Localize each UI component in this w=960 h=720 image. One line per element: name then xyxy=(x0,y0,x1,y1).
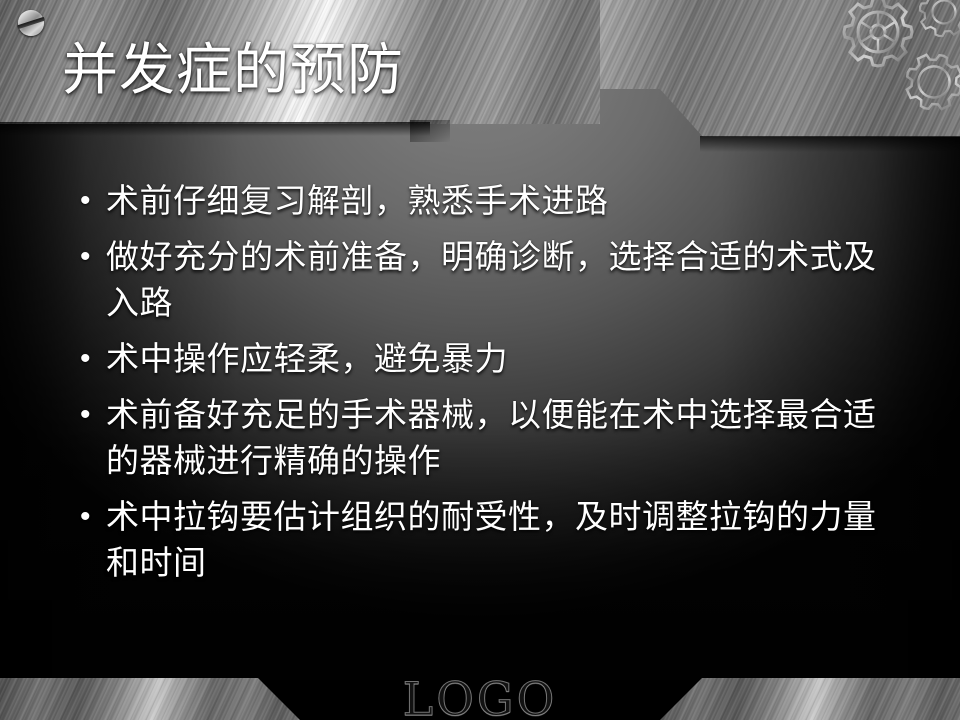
bullet-marker: • xyxy=(80,392,106,438)
bullet-marker: • xyxy=(80,336,106,382)
screw-icon xyxy=(18,10,44,36)
bullet-marker: • xyxy=(80,494,106,540)
bullet-list: • 术前仔细复习解剖，熟悉手术进路 • 做好充分的术前准备，明确诊断，选择合适的… xyxy=(80,178,890,596)
list-item-text: 术中拉钩要估计组织的耐受性，及时调整拉钩的力量和时间 xyxy=(106,494,890,586)
bullet-marker: • xyxy=(80,234,106,280)
list-item-text: 术前仔细复习解剖，熟悉手术进路 xyxy=(106,178,890,224)
list-item-text: 做好充分的术前准备，明确诊断，选择合适的术式及入路 xyxy=(106,234,890,326)
bullet-marker: • xyxy=(80,178,106,224)
list-item: • 术前备好充足的手术器械，以便能在术中选择最合适的器械进行精确的操作 xyxy=(80,392,890,484)
list-item-text: 术中操作应轻柔，避免暴力 xyxy=(106,336,890,382)
slide-canvas: 并发症的预防 • 术前仔细复习解剖，熟悉手术进路 • 做好充分的术前准备，明确诊… xyxy=(0,0,960,720)
list-item: • 术中操作应轻柔，避免暴力 xyxy=(80,336,890,382)
list-item: • 做好充分的术前准备，明确诊断，选择合适的术式及入路 xyxy=(80,234,890,326)
list-item-text: 术前备好充足的手术器械，以便能在术中选择最合适的器械进行精确的操作 xyxy=(106,392,890,484)
logo-text: LOGO xyxy=(0,672,960,720)
page-title: 并发症的预防 xyxy=(62,42,404,101)
list-item: • 术中拉钩要估计组织的耐受性，及时调整拉钩的力量和时间 xyxy=(80,494,890,586)
list-item: • 术前仔细复习解剖，熟悉手术进路 xyxy=(80,178,890,224)
